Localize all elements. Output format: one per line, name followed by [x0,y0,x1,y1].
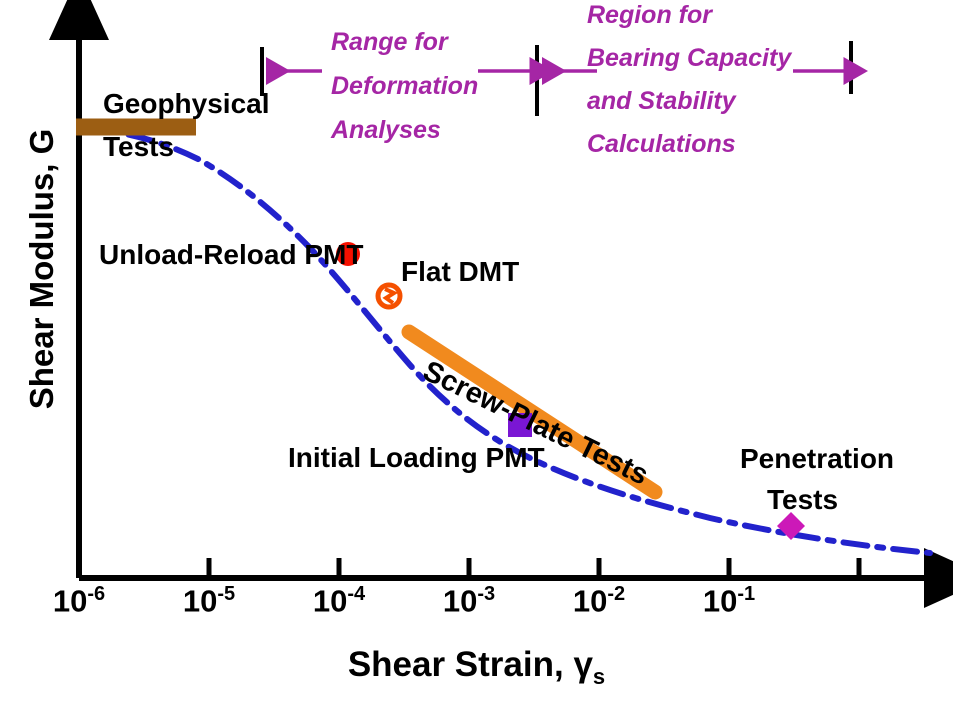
y-axis-title: Shear Modulus, G [23,119,61,419]
annotation-deformation-line3: Analyses [331,114,441,147]
chart-canvas: Shear Modulus, G Shear Strain, γs 10-6 1… [0,0,953,707]
xtick-label-0: 10-6 [53,583,105,619]
xtick-label-1: 10-5 [183,583,235,619]
label-flat-dmt: Flat DMT [401,256,519,288]
x-axis-title: Shear Strain, γs [0,645,953,690]
label-unload-reload-pmt: Unload-Reload PMT [99,239,363,271]
xtick-exp-3: -3 [477,583,495,605]
annotation-bearing-line2: Bearing Capacity [587,42,791,75]
xtick-exp-2: -4 [347,583,365,605]
annotation-bearing-line3: and Stability [587,85,736,118]
xtick-label-2: 10-4 [313,583,365,619]
x-axis [79,558,930,578]
xtick-label-5: 10-1 [703,583,755,619]
annotation-deformation-line2: Deformation [331,70,478,103]
xtick-exp-0: -6 [87,583,105,605]
xtick-exp-1: -5 [217,583,235,605]
label-initial-loading-pmt: Initial Loading PMT [288,442,545,474]
xtick-label-3: 10-3 [443,583,495,619]
xtick-exp-4: -2 [607,583,625,605]
xtick-label-4: 10-2 [573,583,625,619]
gamma-symbol: γ [573,645,592,684]
label-geophysical-tests-line2: Tests [103,131,174,163]
gamma-subscript: s [593,664,605,689]
x-axis-title-text: Shear Strain, [348,645,574,684]
annotation-bearing-line1: Region for [587,0,712,32]
label-penetration-tests-line1: Penetration [740,443,894,475]
xtick-exp-5: -1 [737,583,755,605]
annotation-deformation-line1: Range for [331,26,448,59]
label-geophysical-tests-line1: Geophysical [103,88,270,120]
label-penetration-tests-line2: Tests [767,484,838,516]
annotation-bearing-line4: Calculations [587,128,736,161]
